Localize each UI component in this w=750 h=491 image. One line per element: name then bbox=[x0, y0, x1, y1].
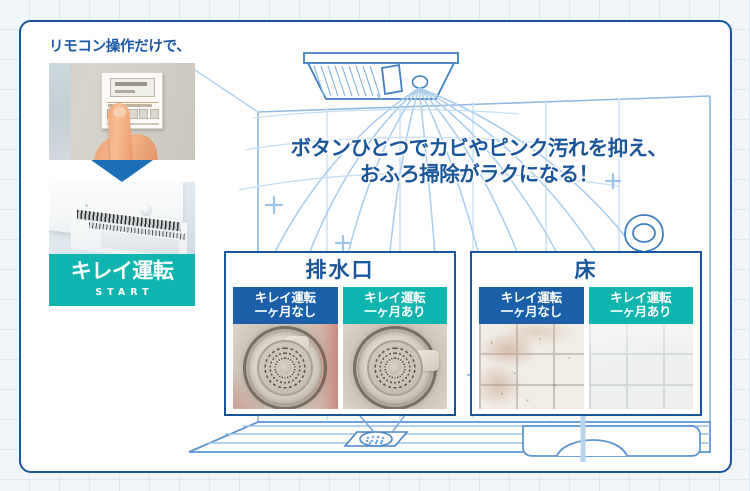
remote-button-5 bbox=[150, 109, 159, 119]
kirei-start-badge: キレイ運転 START bbox=[49, 254, 195, 306]
drain-before-column: キレイ運転 一ヶ月なし bbox=[233, 287, 338, 409]
caption-line-1: キレイ運転 bbox=[479, 291, 584, 305]
ceiling-nozzle-knob bbox=[141, 204, 152, 215]
caption-line-2: 一ヶ月なし bbox=[233, 305, 338, 319]
floor-after-photo bbox=[589, 324, 694, 409]
arrow-triangle bbox=[91, 160, 153, 182]
floor-before-photo bbox=[479, 324, 584, 409]
display-line-secondary bbox=[115, 90, 135, 93]
caption-line-2: 一ヶ月あり bbox=[589, 305, 694, 319]
main-card: ボタンひとつでカビやピンク汚れを抑え、 おふろ掃除がラクになる！ リモコン操作だ… bbox=[19, 20, 732, 473]
panel-title-floor: 床 bbox=[472, 253, 700, 287]
caption-line-1: キレイ運転 bbox=[589, 291, 694, 305]
drain-center-cap bbox=[389, 362, 401, 374]
drain-columns: キレイ運転 一ヶ月なし bbox=[226, 287, 454, 416]
comparison-panel-drain: 排水口 キレイ運転 一ヶ月なし bbox=[224, 251, 456, 416]
drain-after-column: キレイ運転 一ヶ月あり bbox=[343, 287, 448, 409]
drain-after-caption: キレイ運転 一ヶ月あり bbox=[343, 287, 448, 324]
drain-before-photo bbox=[233, 324, 338, 409]
ceiling-sensor-dot bbox=[85, 204, 88, 207]
photo-wall-left-edge bbox=[49, 63, 70, 160]
drain-center-cap bbox=[279, 362, 291, 374]
badge-jp-label: キレイ運転 bbox=[71, 261, 174, 282]
panel-title-drain: 排水口 bbox=[226, 253, 454, 287]
display-line-primary bbox=[115, 82, 147, 86]
comparison-panel-floor: 床 キレイ運転 一ヶ月なし キレイ運転 bbox=[470, 251, 702, 416]
fingernail bbox=[113, 106, 127, 117]
drain-after-photo bbox=[343, 324, 448, 409]
page-root: ボタンひとつでカビやピンク汚れを抑え、 おふろ掃除がラクになる！ リモコン操作だ… bbox=[0, 0, 750, 491]
headline-line-2: おふろ掃除がラクになる！ bbox=[249, 161, 709, 187]
floor-before-caption: キレイ運転 一ヶ月なし bbox=[479, 287, 584, 324]
caption-line-2: 一ヶ月あり bbox=[343, 305, 448, 319]
headline: ボタンひとつでカビやピンク汚れを抑え、 おふろ掃除がラクになる！ bbox=[249, 135, 709, 187]
remote-button-4 bbox=[139, 109, 148, 119]
ceiling-unit-photo bbox=[49, 182, 195, 254]
left-column: リモコン操作だけで、 bbox=[49, 40, 215, 306]
floor-after-column: キレイ運転 一ヶ月あり bbox=[589, 287, 694, 409]
drain-before-caption: キレイ運転 一ヶ月なし bbox=[233, 287, 338, 324]
floor-columns: キレイ運転 一ヶ月なし キレイ運転 一ヶ月あり bbox=[472, 287, 700, 416]
floor-after-caption: キレイ運転 一ヶ月あり bbox=[589, 287, 694, 324]
caption-line-1: キレイ運転 bbox=[343, 291, 448, 305]
down-arrow-icon bbox=[49, 160, 195, 182]
badge-en-label: START bbox=[90, 287, 153, 298]
remote-control-photo bbox=[49, 63, 195, 160]
caption-line-2: 一ヶ月なし bbox=[479, 305, 584, 319]
floor-before-column: キレイ運転 一ヶ月なし bbox=[479, 287, 584, 409]
tile-clean-sheen bbox=[589, 324, 694, 409]
headline-line-1: ボタンひとつでカビやピンク汚れを抑え、 bbox=[249, 135, 709, 161]
tile-dirt-specks bbox=[479, 324, 584, 409]
remote-display bbox=[110, 78, 155, 97]
caption-line-1: キレイ運転 bbox=[233, 291, 338, 305]
remote-operation-heading: リモコン操作だけで、 bbox=[49, 40, 215, 55]
remote-divider bbox=[107, 102, 158, 103]
